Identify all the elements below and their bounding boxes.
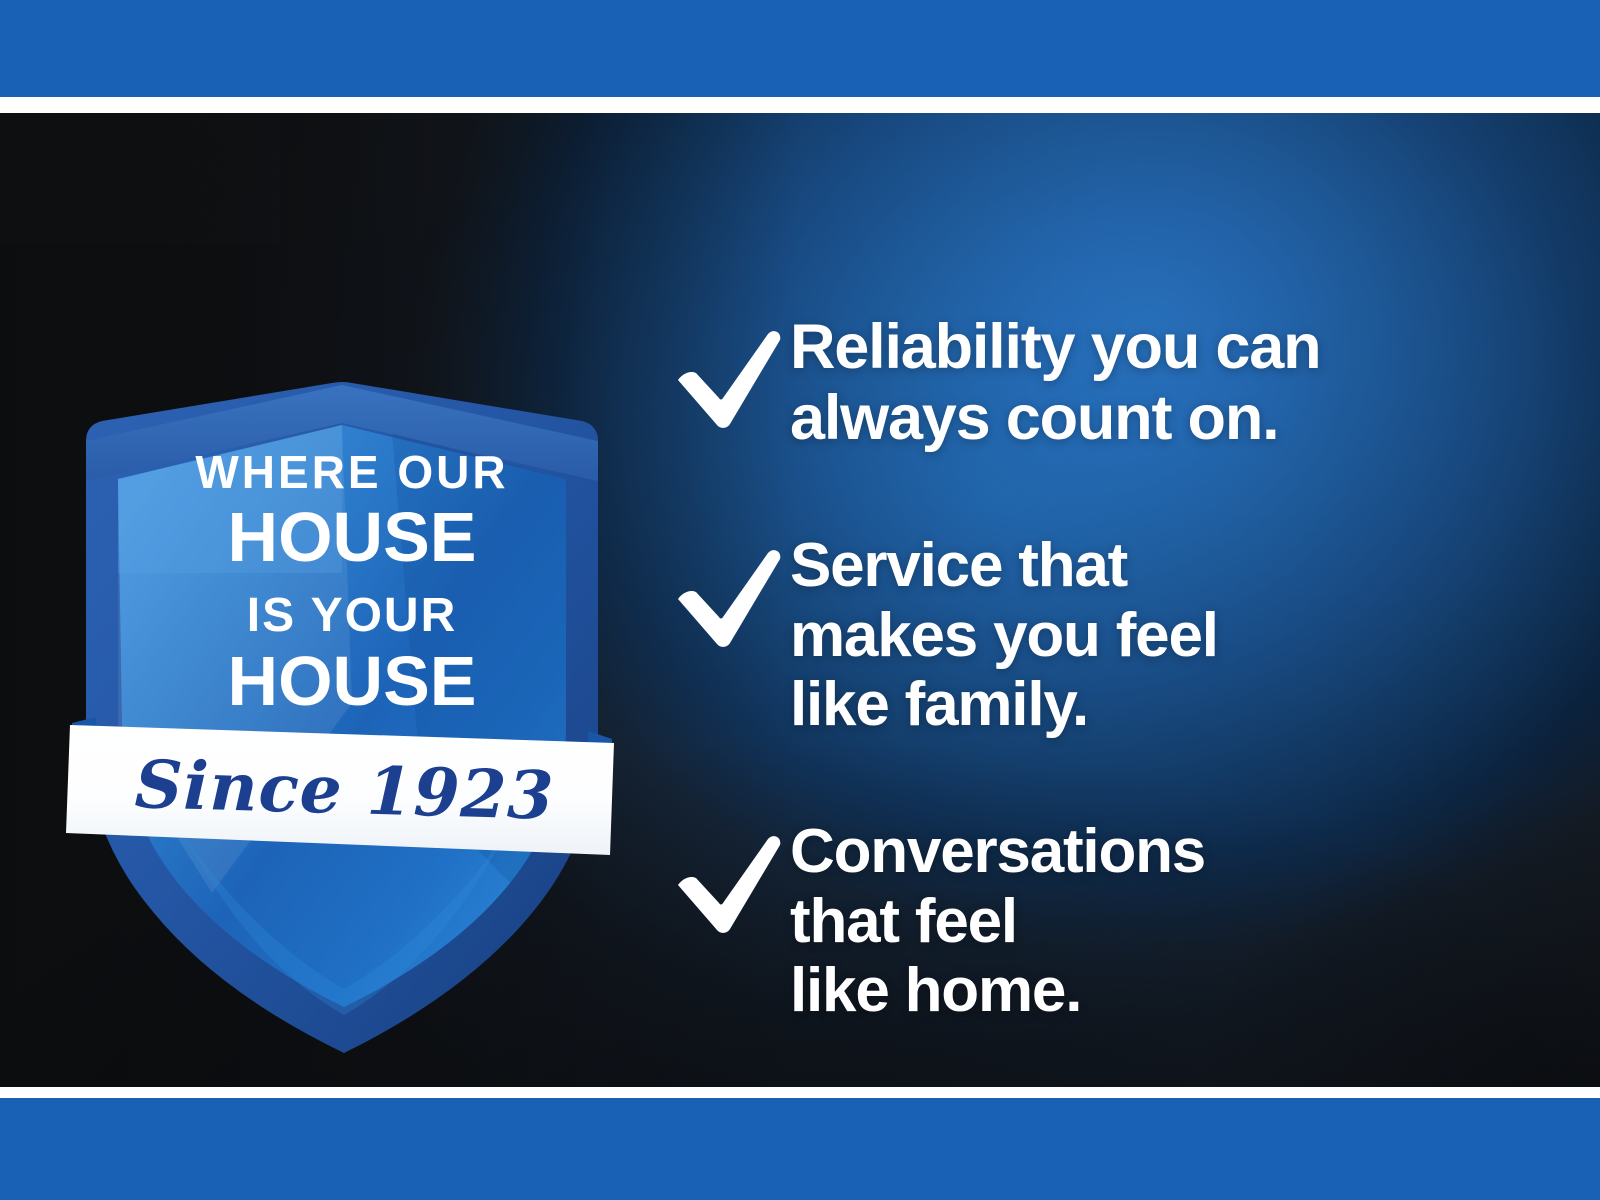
badge-line-3: IS YOUR: [247, 589, 458, 642]
checkmark-icon: [672, 308, 790, 432]
badge-line-2: HOUSE: [228, 498, 477, 576]
panel-grain-texture: [0, 113, 280, 243]
benefits-list: Reliability you can always count on. Ser…: [672, 308, 1532, 1026]
top-white-divider: [0, 97, 1600, 113]
list-item: Conversations that feel like home.: [672, 813, 1532, 1025]
bottom-brand-bar: [0, 1098, 1600, 1200]
main-panel: WHERE OUR HOUSE IS YOUR HOUSE Since 1923: [0, 113, 1600, 1087]
list-item-text: Reliability you can always count on.: [790, 308, 1532, 453]
bottom-white-divider: [0, 1087, 1600, 1098]
checkmark-icon: [672, 527, 790, 651]
ribbon-label: Since 1923: [134, 745, 556, 835]
list-item: Reliability you can always count on.: [672, 308, 1532, 453]
list-item-text: Conversations that feel like home.: [790, 813, 1532, 1025]
badge-line-4: HOUSE: [228, 642, 477, 720]
checkmark-icon: [672, 813, 790, 937]
list-item: Service that makes you feel like family.: [672, 527, 1532, 739]
shield-badge: WHERE OUR HOUSE IS YOUR HOUSE Since 1923: [62, 273, 622, 1063]
promo-graphic-canvas: WHERE OUR HOUSE IS YOUR HOUSE Since 1923: [0, 0, 1600, 1200]
list-item-text: Service that makes you feel like family.: [790, 527, 1532, 739]
badge-line-1: WHERE OUR: [195, 446, 508, 498]
top-brand-bar: [0, 0, 1600, 97]
